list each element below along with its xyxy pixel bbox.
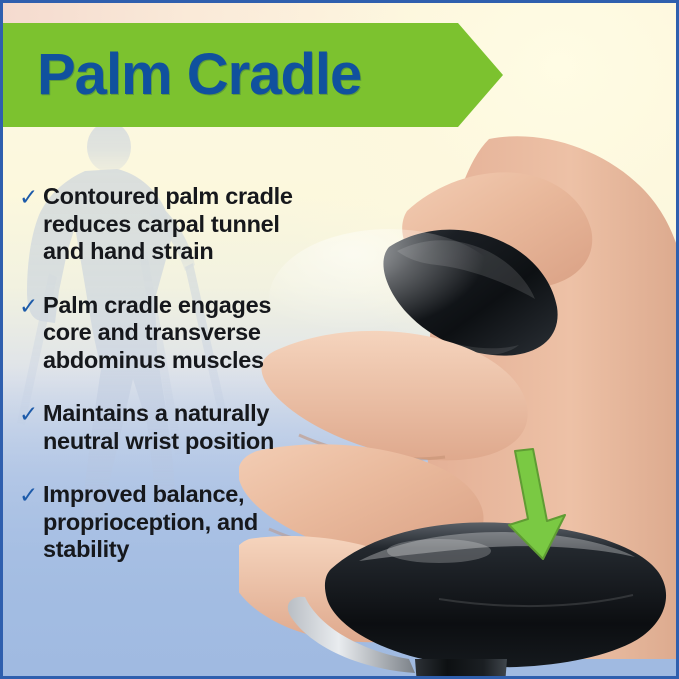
feature-text: Contoured palm cradle reduces carpal tun… <box>43 183 293 266</box>
feature-line: Palm cradle engages <box>43 292 271 320</box>
feature-line: Maintains a naturally <box>43 400 274 428</box>
feature-line: Improved balance, <box>43 481 258 509</box>
feature-line: Contoured palm cradle <box>43 183 293 211</box>
check-icon: ✓ <box>19 184 43 211</box>
infographic-canvas: Palm Cradle ✓ Contoured palm cradle redu… <box>0 0 679 679</box>
feature-line: stability <box>43 536 258 564</box>
feature-line: and hand strain <box>43 238 293 266</box>
feature-line: core and transverse <box>43 319 271 347</box>
title-banner: Palm Cradle <box>3 23 519 127</box>
page-title: Palm Cradle <box>37 45 361 105</box>
check-icon: ✓ <box>19 401 43 428</box>
feature-line: neutral wrist position <box>43 428 274 456</box>
list-item: ✓ Contoured palm cradle reduces carpal t… <box>19 183 359 266</box>
list-item: ✓ Palm cradle engages core and transvers… <box>19 292 359 375</box>
list-item: ✓ Improved balance, proprioception, and … <box>19 481 359 564</box>
feature-text: Maintains a naturally neutral wrist posi… <box>43 400 274 455</box>
down-arrow-icon <box>503 447 573 562</box>
feature-line: abdominus muscles <box>43 347 271 375</box>
check-icon: ✓ <box>19 482 43 509</box>
feature-line: reduces carpal tunnel <box>43 211 293 239</box>
feature-text: Palm cradle engages core and transverse … <box>43 292 271 375</box>
feature-list: ✓ Contoured palm cradle reduces carpal t… <box>19 183 359 590</box>
feature-text: Improved balance, proprioception, and st… <box>43 481 258 564</box>
list-item: ✓ Maintains a naturally neutral wrist po… <box>19 400 359 455</box>
feature-line: proprioception, and <box>43 509 258 537</box>
background-pink-strip <box>3 3 407 25</box>
check-icon: ✓ <box>19 293 43 320</box>
